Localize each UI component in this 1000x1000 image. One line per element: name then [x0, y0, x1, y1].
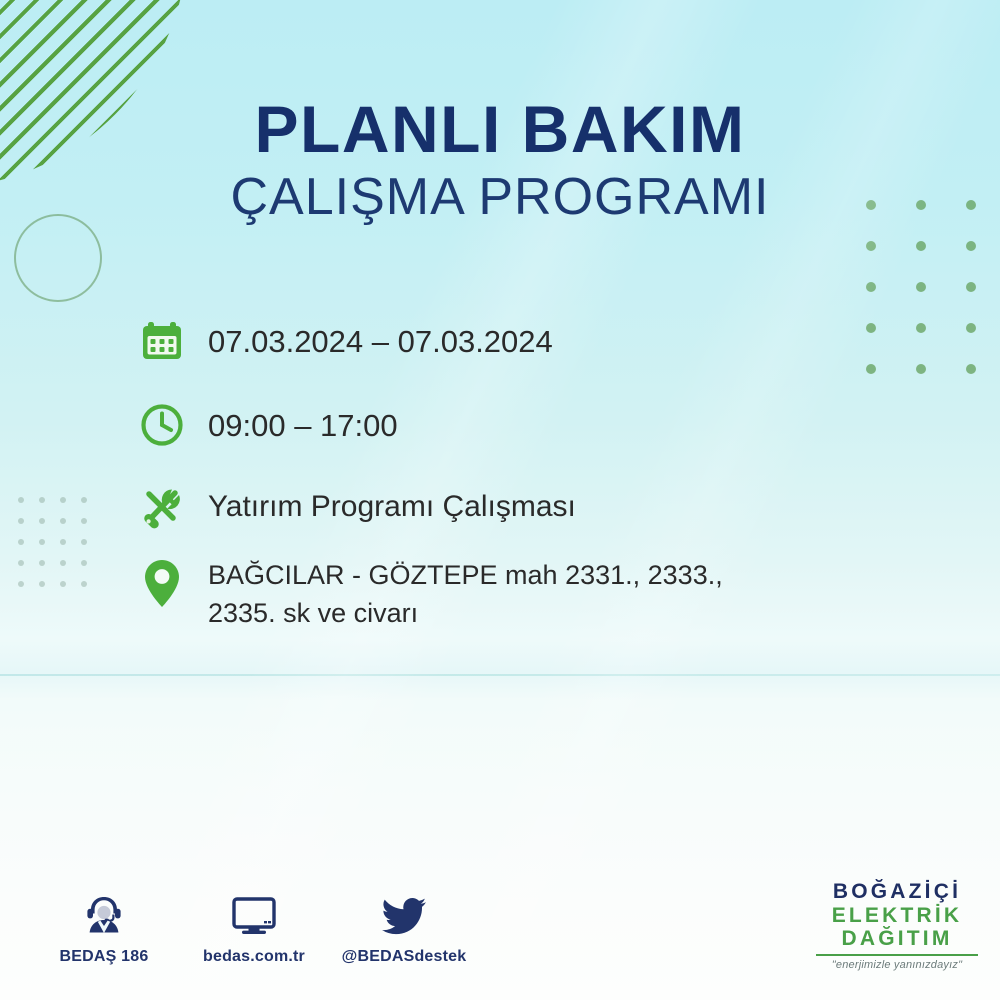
detail-row-work-type: Yatırım Programı Çalışması [136, 482, 876, 538]
detail-location-text: BAĞCILAR - GÖZTEPE mah 2331., 2333., 233… [188, 556, 876, 633]
dot-grid-right-decoration [866, 200, 1000, 405]
logo-line-dagitim: DAĞITIM [812, 927, 982, 951]
contact-website-label: bedas.com.tr [203, 948, 305, 966]
detail-row-location: BAĞCILAR - GÖZTEPE mah 2331., 2333., 233… [136, 556, 876, 633]
call-center-agent-icon [82, 892, 126, 936]
logo-tagline: "enerjimizle yanınızdayız" [812, 959, 982, 971]
twitter-bird-icon [380, 892, 428, 936]
detail-date-text: 07.03.2024 – 07.03.2024 [188, 316, 876, 364]
horizontal-divider-band [0, 674, 1000, 676]
poster-header: PLANLI BAKIM ÇALIŞMA PROGRAMI [0, 96, 1000, 227]
maintenance-details: 07.03.2024 – 07.03.2024 09:00 – 17:00 [136, 316, 876, 633]
detail-row-date: 07.03.2024 – 07.03.2024 [136, 316, 876, 372]
location-pin-icon [136, 556, 188, 610]
logo-line-elektrik: ELEKTRİK [812, 904, 982, 928]
logo-divider [816, 954, 978, 956]
detail-row-time: 09:00 – 17:00 [136, 400, 876, 456]
bedas-logo: BOĞAZİÇİ ELEKTRİK DAĞITIM "enerjimizle y… [812, 880, 982, 971]
planned-maintenance-poster: PLANLI BAKIM ÇALIŞMA PROGRAMI [0, 0, 1000, 1000]
page-subtitle: ÇALIŞMA PROGRAMI [0, 169, 1000, 226]
contact-website[interactable]: bedas.com.tr [198, 892, 310, 966]
contact-call-center-label: BEDAŞ 186 [60, 948, 149, 966]
dot-grid-left-decoration [18, 497, 102, 602]
contact-twitter[interactable]: @BEDASdestek [348, 892, 460, 966]
clock-icon [136, 400, 188, 448]
contact-twitter-label: @BEDASdestek [342, 948, 467, 966]
contact-call-center[interactable]: BEDAŞ 186 [48, 892, 160, 966]
detail-work-type-text: Yatırım Programı Çalışması [188, 482, 876, 529]
page-title: PLANLI BAKIM [0, 96, 1000, 163]
monitor-icon [231, 892, 277, 936]
footer-contacts: BEDAŞ 186 bedas.com.tr @BEDASdestek [48, 892, 460, 966]
tools-icon [136, 482, 188, 530]
circle-outline-decoration [14, 214, 102, 302]
calendar-icon [136, 316, 188, 364]
logo-line-bogazici: BOĞAZİÇİ [812, 880, 982, 904]
detail-time-text: 09:00 – 17:00 [188, 400, 876, 448]
